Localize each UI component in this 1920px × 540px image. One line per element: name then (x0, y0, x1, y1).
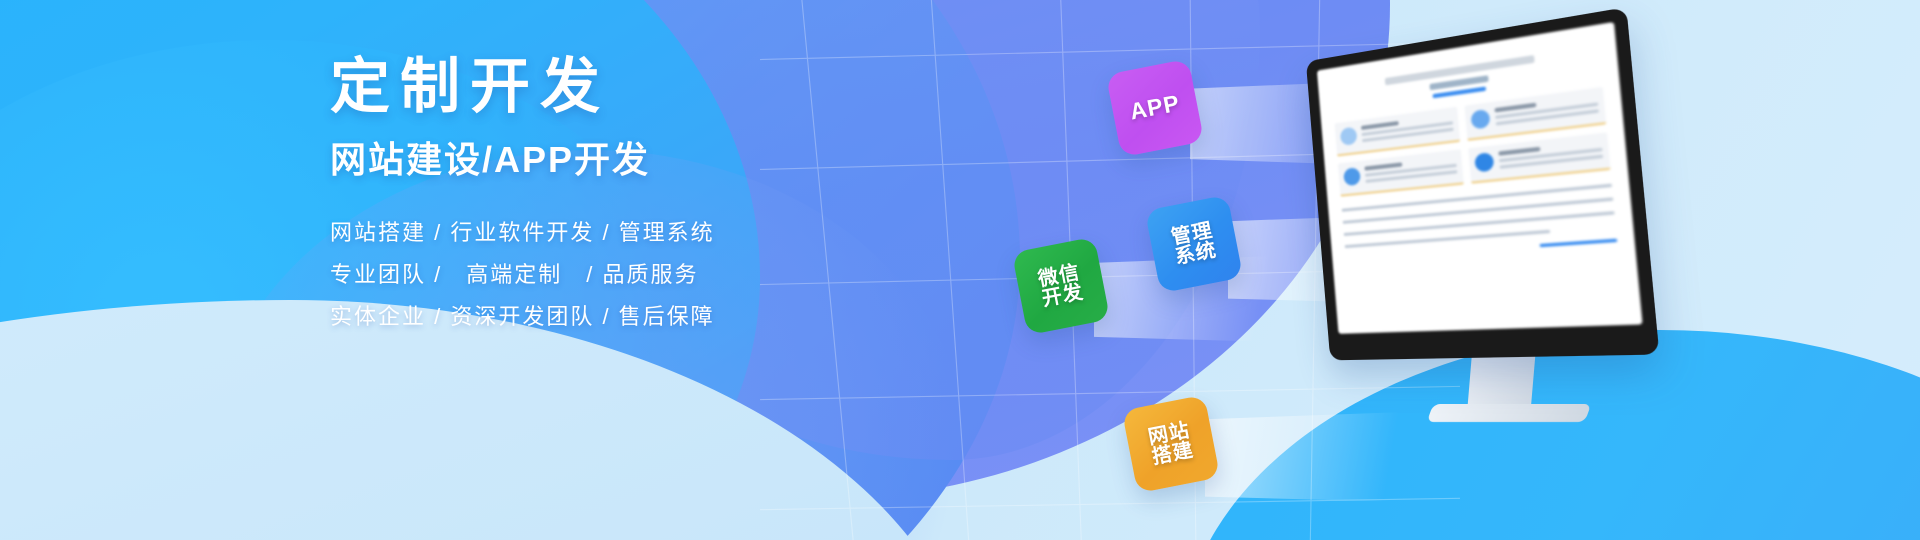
website-card-icon: 网站 搭建 (1146, 420, 1195, 468)
app-card-icon: APP (1128, 92, 1182, 125)
wechat-card[interactable]: 微信 开发 (1012, 237, 1110, 335)
wechat-card-icon: 微信 开发 (1036, 262, 1085, 310)
screen-card-text (1364, 156, 1457, 186)
feature-line-3: 实体企业 / 资深开发团队 / 售后保障 (330, 306, 890, 328)
screen-paragraph-accent (1540, 239, 1618, 248)
screen-card-text (1361, 114, 1454, 145)
page-title: 定制开发 (330, 55, 890, 118)
promo-banner: 定制开发 网站建设/APP开发 网站搭建 / 行业软件开发 / 管理系统 专业团… (0, 0, 1920, 540)
screen-card-icon (1343, 167, 1361, 186)
headline-copy-block: 定制开发 网站建设/APP开发 网站搭建 / 行业软件开发 / 管理系统 专业团… (330, 55, 890, 348)
screen-feature-card (1335, 107, 1460, 157)
feature-list: 网站搭建 / 行业软件开发 / 管理系统 专业团队 / 高端定制 / 品质服务 … (330, 222, 890, 328)
feature-line-1: 网站搭建 / 行业软件开发 / 管理系统 (330, 222, 890, 244)
screen-card-icon (1340, 127, 1358, 146)
screen-card-icon (1474, 152, 1494, 172)
screen-feature-card (1464, 87, 1606, 141)
monitor-screen-bezel (1306, 7, 1660, 360)
screen-paragraph (1342, 184, 1618, 261)
screen-card-text (1494, 94, 1599, 128)
monitor-base (1427, 404, 1592, 422)
website-card[interactable]: 网站 搭建 (1122, 395, 1220, 493)
desktop-monitor (1318, 60, 1618, 360)
screen-card-icon (1470, 109, 1490, 130)
screen-feature-card (1338, 149, 1463, 196)
app-card[interactable]: APP (1106, 59, 1204, 157)
page-subtitle: 网站建设/APP开发 (330, 140, 890, 180)
management-card[interactable]: 管理 系统 (1145, 195, 1243, 293)
monitor-stand (1467, 352, 1535, 411)
feature-line-2: 专业团队 / 高端定制 / 品质服务 (330, 264, 890, 286)
screen-feature-cards (1335, 87, 1611, 197)
monitor-screen-content (1317, 22, 1643, 334)
management-card-icon: 管理 系统 (1169, 220, 1218, 268)
screen-feature-card (1468, 132, 1611, 183)
screen-card-text (1498, 140, 1604, 172)
